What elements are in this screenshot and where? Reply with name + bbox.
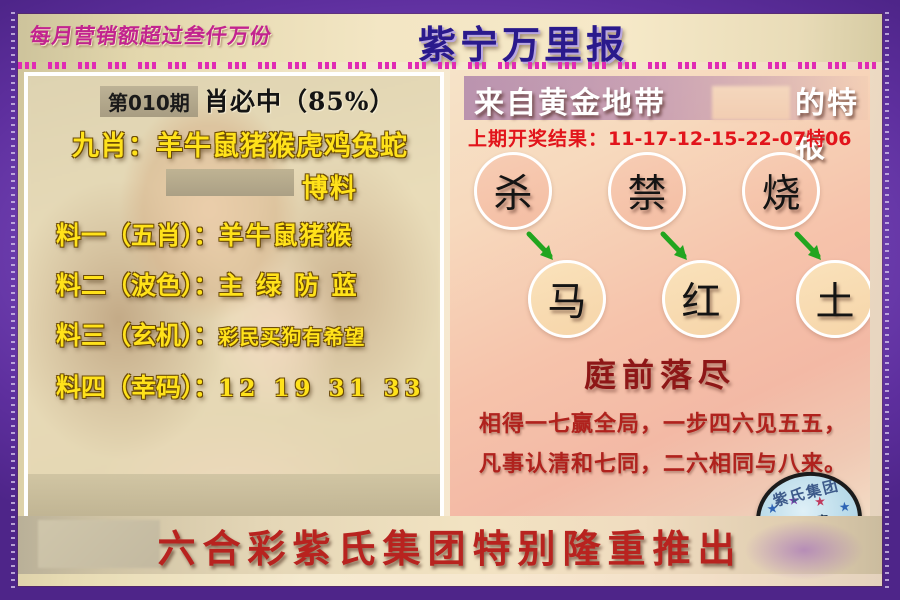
issue-number-badge: 第010期 bbox=[100, 86, 198, 117]
tip-row-4: 料四（幸码）：12 19 31 33 bbox=[56, 368, 444, 404]
arrow-down-right-icon-2 bbox=[658, 230, 694, 266]
circle-ban-source: 禁 bbox=[608, 152, 686, 230]
censored-block-left bbox=[166, 169, 294, 196]
header-slogan: 每月营销额超过叁仟万份 bbox=[28, 20, 274, 50]
footer-glow-decoration bbox=[744, 520, 864, 580]
poster-page: 每月营销额超过叁仟万份 紫宁万里报 第010期 肖必中（85%） 九肖：羊牛鼠猪… bbox=[18, 14, 882, 586]
poster-root: 每月营销额超过叁仟万份 紫宁万里报 第010期 肖必中（85%） 九肖：羊牛鼠猪… bbox=[0, 0, 900, 600]
header-bar: 每月营销额超过叁仟万份 紫宁万里报 bbox=[18, 14, 882, 62]
tip-row-2-value: 主 绿 防 蓝 bbox=[219, 271, 359, 300]
last-draw-result-label: 上期开奖结果： bbox=[468, 128, 608, 150]
left-edge-dots-decoration bbox=[11, 12, 15, 588]
right-title-left: 来自黄金地带 bbox=[474, 78, 666, 122]
circle-kill-source: 杀 bbox=[474, 152, 552, 230]
poem-line-1: 相得一七赢全局，一步四六见五五， bbox=[456, 406, 870, 438]
tip-row-2-label: 料二（波色）： bbox=[56, 271, 219, 300]
censored-block-right bbox=[712, 86, 790, 120]
tip-row-3-label: 料三（玄机）： bbox=[56, 321, 219, 350]
right-edge-dots-decoration bbox=[885, 12, 889, 588]
tip-row-4-label: 料四（幸码）： bbox=[56, 373, 219, 402]
right-content-panel: 来自黄金地带 的特报 上期开奖结果：11-17-12-15-22-07特06 杀… bbox=[450, 70, 870, 522]
tip-row-1: 料一（五肖）：羊牛鼠猪猴 bbox=[56, 216, 444, 252]
tip-row-1-value: 羊牛鼠猪猴 bbox=[219, 221, 354, 250]
circle-burn-source: 烧 bbox=[742, 152, 820, 230]
last-draw-result: 上期开奖结果：11-17-12-15-22-07特06 bbox=[468, 124, 852, 151]
tip-row-4-value: 12 19 31 33 bbox=[219, 375, 426, 402]
nine-zodiac-line: 九肖：羊牛鼠猪猴虎鸡兔蛇 bbox=[72, 124, 408, 163]
arrow-down-right-icon-1 bbox=[524, 230, 560, 266]
tip-row-1-label: 料一（五肖）： bbox=[56, 221, 219, 250]
header-dotted-divider bbox=[18, 62, 882, 69]
left-content-panel: 第010期 肖必中（85%） 九肖：羊牛鼠猪猴虎鸡兔蛇 博料 料一（五肖）：羊牛… bbox=[24, 72, 444, 522]
arrow-down-right-icon-3 bbox=[792, 230, 828, 266]
tip-row-3: 料三（玄机）：彩民买狗有希望 bbox=[56, 316, 444, 352]
tip-row-2: 料二（波色）：主 绿 防 蓝 bbox=[56, 266, 444, 302]
circle-red-target: 红 bbox=[662, 260, 740, 338]
tip-row-3-value: 彩民买狗有希望 bbox=[219, 325, 366, 349]
last-draw-result-value: 11-17-12-15-22-07特06 bbox=[608, 128, 852, 150]
poem-title: 庭前落尽 bbox=[450, 350, 870, 396]
boliao-label: 博料 bbox=[302, 168, 358, 205]
page-title: 紫宁万里报 bbox=[418, 14, 628, 69]
circle-earth-target: 土 bbox=[796, 260, 870, 338]
left-panel-footer-strip bbox=[28, 474, 440, 518]
left-headline: 肖必中（85%） bbox=[204, 82, 396, 118]
right-title-right: 的特报 bbox=[795, 78, 870, 166]
footer-banner: 六合彩紫氏集团特别隆重推出 bbox=[18, 516, 882, 574]
circle-horse-target: 马 bbox=[528, 260, 606, 338]
